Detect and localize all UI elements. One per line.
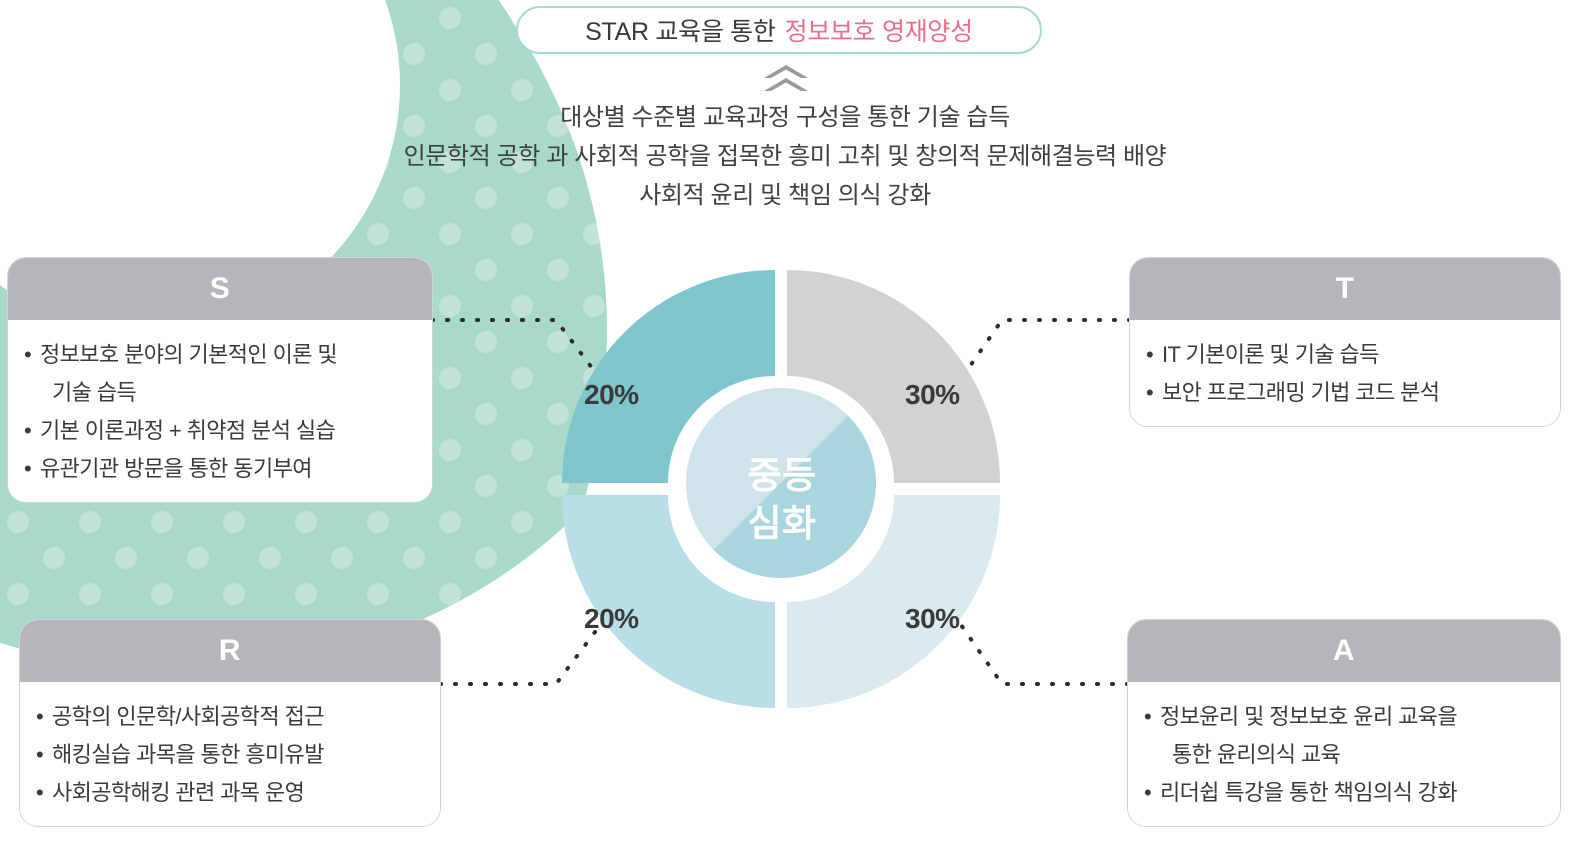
card-r-letter: R: [219, 634, 241, 668]
card-a-list: 정보윤리 및 정보보호 윤리 교육을 통한 윤리의식 교육 리더쉽 특강을 통한…: [1144, 698, 1546, 812]
title-accent: 정보보호 영재양성: [785, 12, 973, 48]
donut-center-circle: [686, 388, 876, 578]
donut-label-a: 30%: [905, 603, 960, 635]
card-a-letter: A: [1333, 634, 1355, 668]
card-t-header: T: [1130, 258, 1560, 320]
list-item: IT 기본이론 및 기술 습득: [1146, 336, 1546, 374]
list-item: 통한 윤리의식 교육: [1144, 736, 1546, 774]
card-a[interactable]: A 정보윤리 및 정보보호 윤리 교육을 통한 윤리의식 교육 리더쉽 특강을 …: [1128, 620, 1560, 826]
card-t-list: IT 기본이론 및 기술 습득 보안 프로그래밍 기법 코드 분석: [1146, 336, 1546, 412]
card-t-body: IT 기본이론 및 기술 습득 보안 프로그래밍 기법 코드 분석: [1130, 320, 1560, 426]
subtitle-line-1: 대상별 수준별 교육과정 구성을 통한 기술 습득: [180, 98, 1390, 137]
list-item: 리더쉽 특강을 통한 책임의식 강화: [1144, 774, 1546, 812]
card-s-list: 정보보호 분야의 기본적인 이론 및 기술 습득 기본 이론과정 + 취약점 분…: [24, 336, 418, 488]
card-s-header: S: [8, 258, 432, 320]
list-item: 해킹실습 과목을 통한 흥미유발: [36, 736, 426, 774]
list-item: 기본 이론과정 + 취약점 분석 실습: [24, 412, 418, 450]
card-a-header: A: [1128, 620, 1560, 682]
card-s-letter: S: [210, 272, 231, 306]
card-s-body: 정보보호 분야의 기본적인 이론 및 기술 습득 기본 이론과정 + 취약점 분…: [8, 320, 432, 502]
card-r-list: 공학의 인문학/사회공학적 접근 해킹실습 과목을 통한 흥미유발 사회공학해킹…: [36, 698, 426, 812]
card-r[interactable]: R 공학의 인문학/사회공학적 접근 해킹실습 과목을 통한 흥미유발 사회공학…: [20, 620, 440, 826]
list-item: 정보윤리 및 정보보호 윤리 교육을: [1144, 698, 1546, 736]
donut-label-s: 20%: [584, 379, 639, 411]
main-title-pill: STAR 교육을 통한 정보보호 영재양성: [516, 6, 1042, 54]
connector-a: [952, 612, 1128, 684]
subtitle-line-2: 인문학적 공학 과 사회적 공학을 접목한 흥미 고취 및 창의적 문제해결능력…: [180, 137, 1390, 176]
donut-label-r: 20%: [584, 603, 639, 635]
card-r-header: R: [20, 620, 440, 682]
card-s[interactable]: S 정보보호 분야의 기본적인 이론 및 기술 습득 기본 이론과정 + 취약점…: [8, 258, 432, 502]
list-item: 사회공학해킹 관련 과목 운영: [36, 774, 426, 812]
connector-t: [952, 320, 1130, 392]
list-item: 정보보호 분야의 기본적인 이론 및: [24, 336, 418, 374]
card-t[interactable]: T IT 기본이론 및 기술 습득 보안 프로그래밍 기법 코드 분석: [1130, 258, 1560, 426]
card-r-body: 공학의 인문학/사회공학적 접근 해킹실습 과목을 통한 흥미유발 사회공학해킹…: [20, 682, 440, 826]
card-t-letter: T: [1336, 272, 1355, 306]
double-chevron-up-icon: [760, 62, 812, 92]
infographic-canvas: STAR 교육을 통한 정보보호 영재양성 대상별 수준별 교육과정 구성을 통…: [0, 0, 1573, 850]
list-item: 기술 습득: [24, 374, 418, 412]
title-prefix: STAR 교육을 통한: [585, 12, 775, 48]
card-a-body: 정보윤리 및 정보보호 윤리 교육을 통한 윤리의식 교육 리더쉽 특강을 통한…: [1128, 682, 1560, 826]
donut-label-t: 30%: [905, 379, 960, 411]
subtitle-line-3: 사회적 윤리 및 책임 의식 강화: [180, 176, 1390, 215]
list-item: 유관기관 방문을 통한 동기부여: [24, 450, 418, 488]
list-item: 공학의 인문학/사회공학적 접근: [36, 698, 426, 736]
list-item: 보안 프로그래밍 기법 코드 분석: [1146, 374, 1546, 412]
subtitle-block: 대상별 수준별 교육과정 구성을 통한 기술 습득 인문학적 공학 과 사회적 …: [180, 98, 1390, 215]
